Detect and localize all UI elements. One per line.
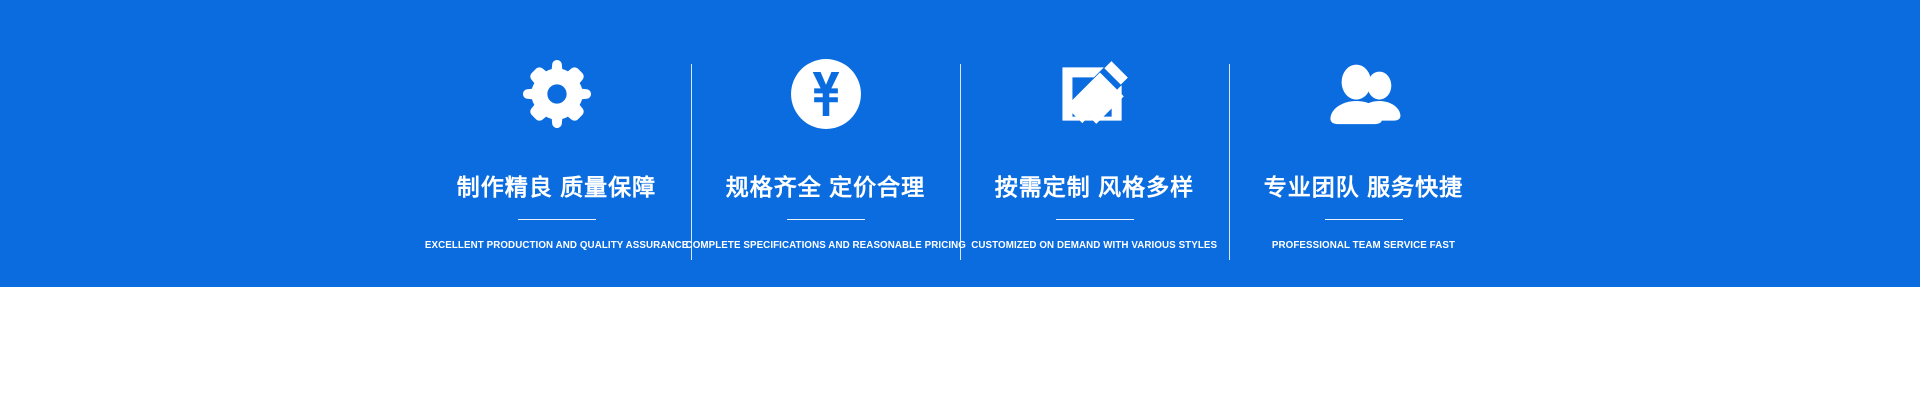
edit-pencil-square-icon (1058, 56, 1132, 132)
feature-divider-rule (787, 219, 865, 220)
feature-caption: COMPLETE SPECIFICATIONS AND REASONABLE P… (685, 240, 965, 252)
feature-item-customization[interactable]: 按需定制 风格多样 CUSTOMIZED ON DEMAND WITH VARI… (960, 0, 1229, 287)
feature-title: 规格齐全 定价合理 (726, 176, 925, 199)
feature-caption: EXCELLENT PRODUCTION AND QUALITY ASSURAN… (425, 240, 688, 252)
feature-title: 制作精良 质量保障 (457, 176, 656, 199)
users-group-icon (1322, 56, 1406, 132)
yen-circle-icon (788, 56, 864, 132)
feature-list: 制作精良 质量保障 EXCELLENT PRODUCTION AND QUALI… (422, 0, 1498, 287)
feature-divider-rule (518, 219, 596, 220)
feature-title: 专业团队 服务快捷 (1264, 176, 1463, 199)
feature-item-quality[interactable]: 制作精良 质量保障 EXCELLENT PRODUCTION AND QUALI… (422, 0, 691, 287)
feature-item-team[interactable]: 专业团队 服务快捷 PROFESSIONAL TEAM SERVICE FAST (1229, 0, 1498, 287)
feature-banner: 制作精良 质量保障 EXCELLENT PRODUCTION AND QUALI… (0, 0, 1920, 287)
feature-caption: CUSTOMIZED ON DEMAND WITH VARIOUS STYLES (972, 240, 1218, 252)
feature-caption: PROFESSIONAL TEAM SERVICE FAST (1272, 240, 1455, 252)
feature-title: 按需定制 风格多样 (995, 176, 1194, 199)
gear-icon (520, 56, 594, 132)
feature-divider-rule (1325, 219, 1403, 220)
feature-item-pricing[interactable]: 规格齐全 定价合理 COMPLETE SPECIFICATIONS AND RE… (691, 0, 960, 287)
feature-divider-rule (1056, 219, 1134, 220)
